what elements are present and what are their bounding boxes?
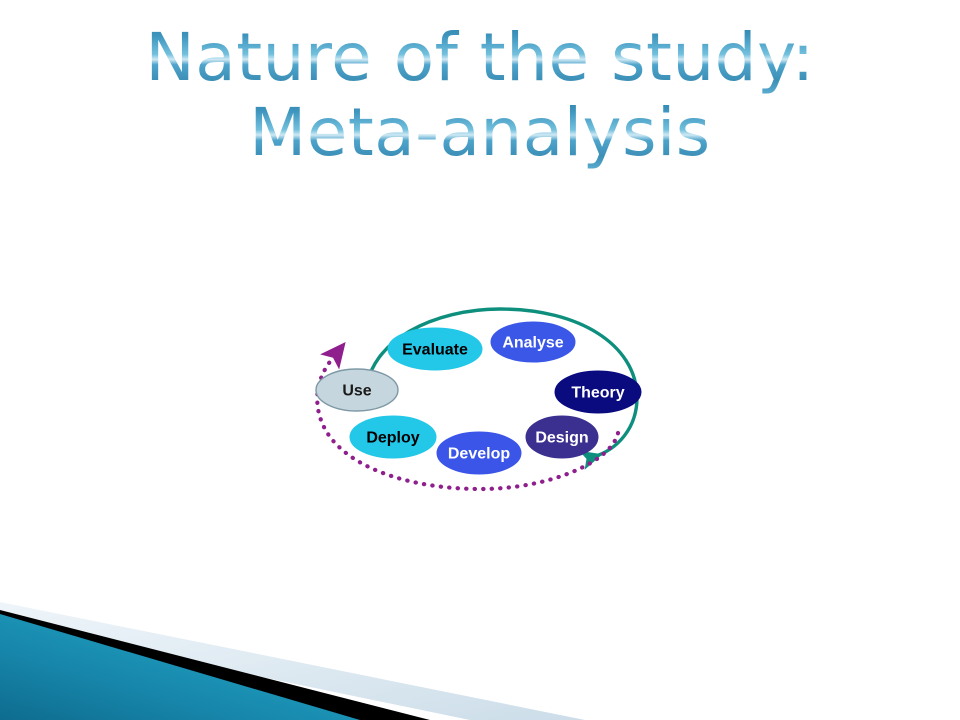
bottom-left-corner-banner (0, 590, 640, 720)
node-deploy[interactable]: Deploy (350, 416, 436, 458)
node-analyse[interactable]: Analyse (491, 322, 575, 362)
node-use-label: Use (342, 383, 371, 400)
node-theory[interactable]: Theory (555, 371, 641, 413)
node-evaluate-label: Evaluate (402, 342, 468, 359)
node-design[interactable]: Design (526, 416, 598, 458)
slide-canvas: Nature of the study: Meta-analysis Use (0, 0, 960, 720)
corner-pale-band (0, 602, 585, 720)
corner-teal-texture (0, 614, 360, 720)
node-develop[interactable]: Develop (437, 432, 521, 474)
node-use[interactable]: Use (316, 369, 398, 411)
node-analyse-label: Analyse (502, 335, 563, 352)
node-evaluate[interactable]: Evaluate (388, 328, 482, 370)
page-title: Nature of the study: Meta-analysis (60, 22, 900, 173)
title-line-1: Nature of the study: (60, 22, 900, 97)
node-design-label: Design (535, 430, 588, 447)
corner-black-stripe (0, 610, 430, 720)
node-deploy-label: Deploy (366, 430, 419, 447)
title-line-2: Meta-analysis (60, 97, 900, 172)
corner-teal-wedge (0, 614, 360, 720)
development-lifecycle-diagram: Use Evaluate Analyse Theory Design (285, 285, 680, 515)
node-develop-label: Develop (448, 446, 510, 463)
node-theory-label: Theory (571, 385, 624, 402)
